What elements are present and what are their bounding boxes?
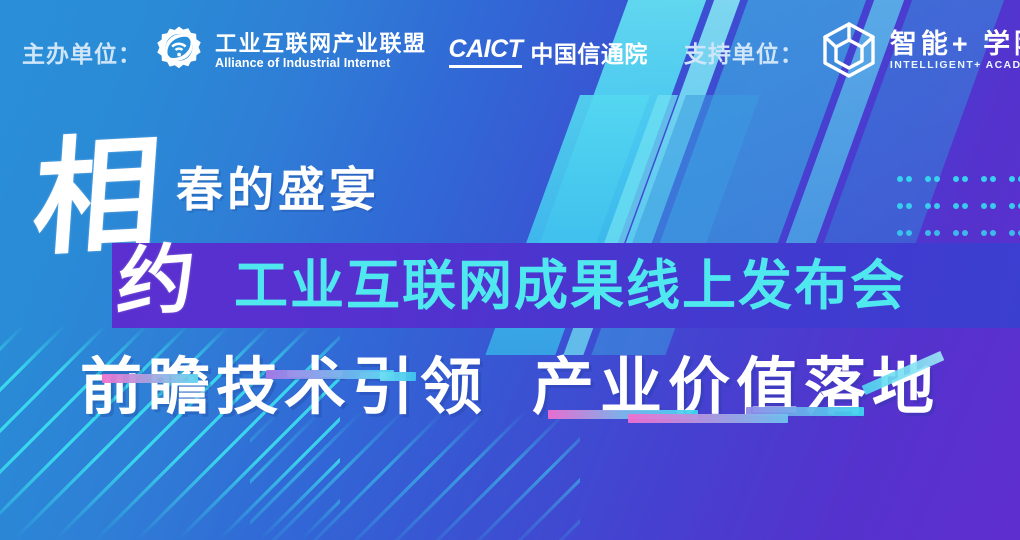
organizer-label: 主办单位：	[22, 35, 142, 69]
dot-pair	[953, 203, 968, 209]
glitch-accent	[380, 372, 416, 381]
diagonal-hairlines-decoration-2	[250, 410, 580, 540]
academy-name-cn: 智能+ 学院	[890, 30, 1020, 58]
dot-pair	[1009, 176, 1020, 182]
glitch-accent	[628, 414, 788, 423]
main-title: 工业互联网成果线上发布会	[234, 259, 906, 313]
dot-pair	[925, 176, 940, 182]
dot-pair	[925, 203, 940, 209]
dot	[981, 230, 987, 236]
alliance-wordmark: 工业互联网产业联盟 Alliance of Industrial Interne…	[215, 32, 427, 72]
dot	[1009, 176, 1015, 182]
dot	[962, 203, 968, 209]
dot	[990, 176, 996, 182]
dot	[925, 176, 931, 182]
dot	[962, 230, 968, 236]
supporter-label: 支持单位：	[684, 35, 804, 69]
dot	[962, 176, 968, 182]
dot-row	[884, 165, 1016, 192]
dot	[897, 203, 903, 209]
dot	[906, 203, 912, 209]
dot	[906, 176, 912, 182]
slash-accent	[862, 351, 945, 395]
alliance-name-en: Alliance of Industrial Internet	[215, 55, 427, 72]
dot	[1009, 230, 1015, 236]
alliance-name-cn: 工业互联网产业联盟	[215, 32, 427, 55]
dot-row	[884, 219, 1016, 246]
dot-pair	[897, 230, 912, 236]
calligraphy-character-yue: 约	[114, 240, 197, 321]
dot	[897, 230, 903, 236]
academy-wordmark: 智能+ 学院 INTELLIGENT+ ACADEMY	[890, 30, 1020, 74]
caict-abbr: CAICT	[449, 36, 523, 68]
tagline-right: 产业价值落地	[532, 352, 940, 423]
dot	[934, 230, 940, 236]
dot-pair	[953, 230, 968, 236]
dot	[953, 203, 959, 209]
dot	[897, 176, 903, 182]
dot-pair	[897, 176, 912, 182]
tagline-right-text: 产业价值落地	[532, 353, 940, 422]
dot	[981, 203, 987, 209]
dot	[925, 230, 931, 236]
dot-pair	[981, 230, 996, 236]
sponsor-header: 主办单位： 工业互联网产业联盟 Alliance of Industrial I…	[0, 0, 1020, 104]
academy-name-en: INTELLIGENT+ ACADEMY	[890, 58, 1020, 74]
dot	[990, 230, 996, 236]
main-title-banner: 工业互联网成果线上发布会	[112, 243, 1020, 328]
cube-icon	[818, 19, 880, 86]
dot	[981, 176, 987, 182]
event-poster: 主办单位： 工业互联网产业联盟 Alliance of Industrial I…	[0, 0, 1020, 540]
dot-pair	[925, 230, 940, 236]
alliance-gear-wifi-icon	[152, 23, 206, 82]
academy-logo: 智能+ 学院 INTELLIGENT+ ACADEMY	[818, 19, 1020, 86]
dot	[934, 203, 940, 209]
caict-name-cn: 中国信通院	[530, 35, 648, 69]
dot	[953, 230, 959, 236]
hero-subtitle: 春的盛宴	[176, 166, 380, 213]
dot-pair	[981, 176, 996, 182]
dot	[1009, 203, 1015, 209]
dot	[953, 176, 959, 182]
glitch-accent	[746, 407, 864, 416]
dot-pair	[897, 203, 912, 209]
dot	[925, 203, 931, 209]
dot-pair	[1009, 203, 1020, 209]
dot-pair	[953, 176, 968, 182]
dot-row	[884, 192, 1016, 219]
dot-pair	[1009, 230, 1020, 236]
dot	[990, 203, 996, 209]
dot	[934, 176, 940, 182]
dot	[906, 230, 912, 236]
dot-pair	[981, 203, 996, 209]
caict-logo: CAICT 中国信通院	[449, 35, 648, 69]
